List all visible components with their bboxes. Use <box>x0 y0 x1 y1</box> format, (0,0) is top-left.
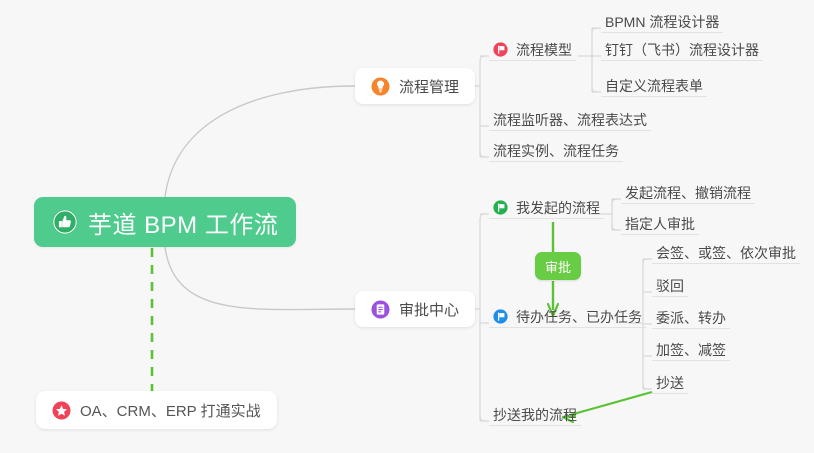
root-node[interactable]: 芋道 BPM 工作流 <box>34 197 296 247</box>
node-process-instance-task[interactable]: 流程实例、流程任务 <box>489 135 623 162</box>
star-icon <box>52 401 71 420</box>
flag-icon <box>493 200 508 215</box>
node-delegate-transfer[interactable]: 委派、转办 <box>652 302 730 329</box>
node-label: 发起流程、撤销流程 <box>625 186 751 200</box>
node-add-remove-sign[interactable]: 加签、减签 <box>652 334 730 361</box>
lightbulb-icon <box>371 77 390 96</box>
node-label: 驳回 <box>656 279 684 293</box>
node-label: 抄送我的流程 <box>493 408 577 422</box>
floating-node-integration-practice[interactable]: OA、CRM、ERP 打通实战 <box>36 391 277 429</box>
node-todo-done-tasks[interactable]: 待办任务、已办任务 <box>489 301 646 328</box>
node-countersign-modes[interactable]: 会签、或签、依次审批 <box>652 237 800 264</box>
node-bpmn-designer[interactable]: BPMN 流程设计器 <box>601 6 723 33</box>
node-label: BPMN 流程设计器 <box>605 15 719 29</box>
node-label: 委派、转办 <box>656 311 726 325</box>
node-designated-approver[interactable]: 指定人审批 <box>621 208 699 235</box>
root-label: 芋道 BPM 工作流 <box>88 205 278 240</box>
node-custom-process-form[interactable]: 自定义流程表单 <box>601 70 707 97</box>
approval-tag-label: 审批 <box>545 257 571 276</box>
node-process-model[interactable]: 流程模型 <box>489 34 576 61</box>
node-label: 自定义流程表单 <box>605 79 703 93</box>
node-label: 加签、减签 <box>656 343 726 357</box>
node-reject[interactable]: 驳回 <box>652 270 688 297</box>
document-icon <box>371 300 390 319</box>
node-label: 钉钉（飞书）流程设计器 <box>605 43 759 57</box>
node-label: 流程模型 <box>516 43 572 57</box>
flag-icon <box>493 309 508 324</box>
node-label: 会签、或签、依次审批 <box>656 246 796 260</box>
node-process-listener-expression[interactable]: 流程监听器、流程表达式 <box>489 104 651 131</box>
flag-icon <box>493 42 508 57</box>
branch-node-process-management[interactable]: 流程管理 <box>355 68 475 104</box>
branch-label: 审批中心 <box>399 299 459 320</box>
node-cc-to-me-processes[interactable]: 抄送我的流程 <box>489 399 581 426</box>
branch-node-approval-center[interactable]: 审批中心 <box>355 291 475 327</box>
thumbs-up-icon <box>52 209 78 235</box>
approval-tag: 审批 <box>535 252 581 280</box>
branch-label: 流程管理 <box>399 76 459 97</box>
node-label: 指定人审批 <box>625 217 695 231</box>
node-start-cancel-process[interactable]: 发起流程、撤销流程 <box>621 177 755 204</box>
node-label: 抄送 <box>656 376 684 390</box>
node-label: 流程实例、流程任务 <box>493 144 619 158</box>
node-label: 待办任务、已办任务 <box>516 310 642 324</box>
node-label: 流程监听器、流程表达式 <box>493 113 647 127</box>
node-label: 我发起的流程 <box>516 201 600 215</box>
mindmap-canvas: 芋道 BPM 工作流 流程管理 流程模型 BPMN 流程设计器 钉钉（飞书）流程 <box>0 0 814 453</box>
node-cc[interactable]: 抄送 <box>652 367 688 394</box>
node-my-initiated-processes[interactable]: 我发起的流程 <box>489 192 604 219</box>
node-dingtalk-feishu-designer[interactable]: 钉钉（飞书）流程设计器 <box>601 34 763 61</box>
floating-node-label: OA、CRM、ERP 打通实战 <box>80 400 261 421</box>
